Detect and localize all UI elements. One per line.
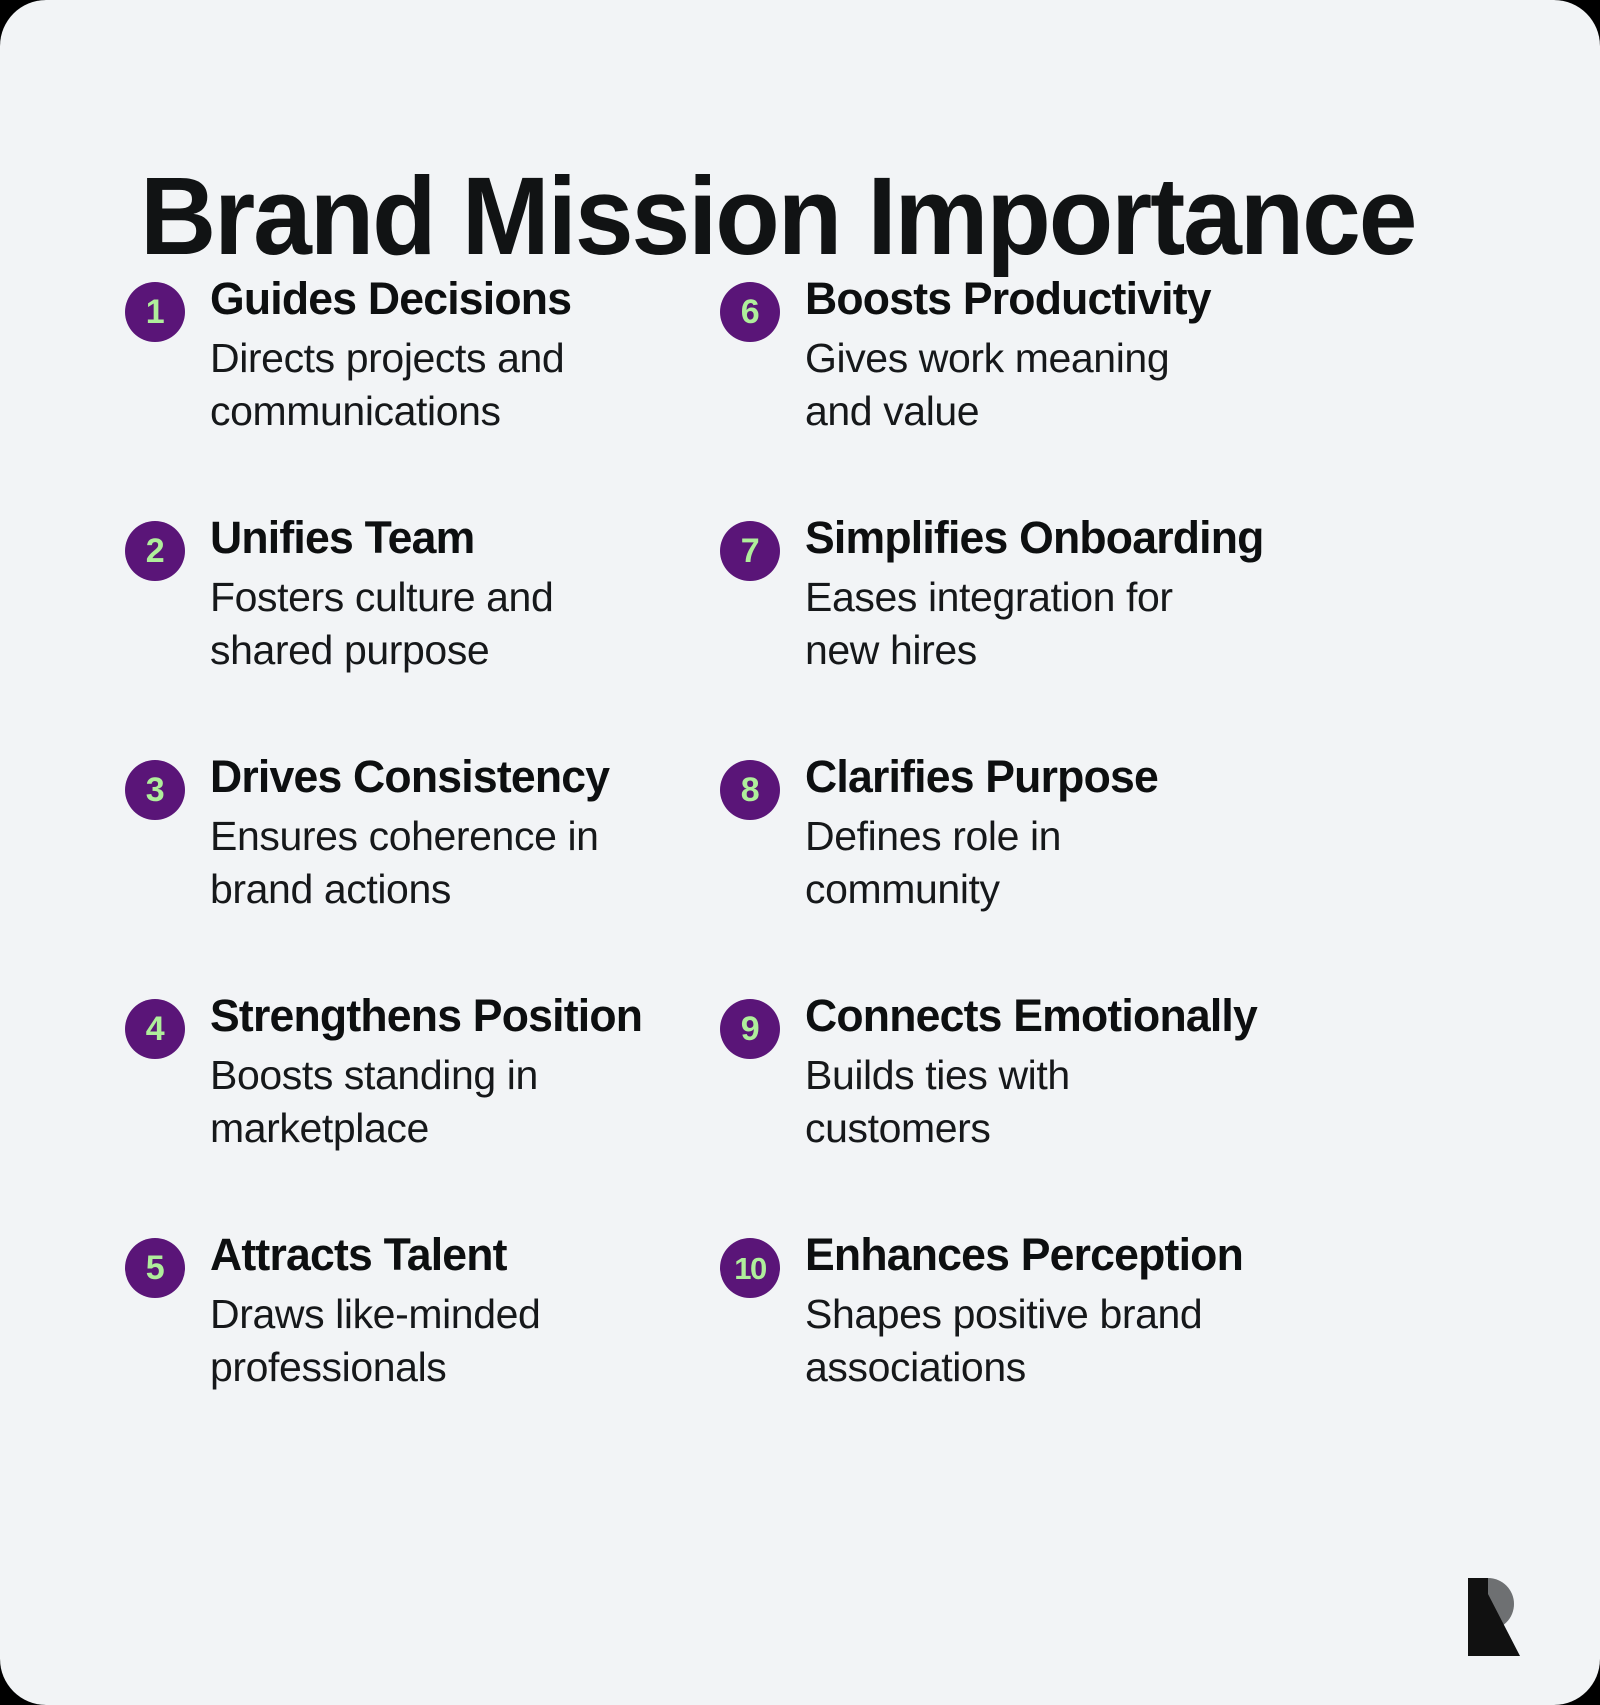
- item-description: Draws like-minded professionals: [210, 1288, 640, 1395]
- list-item: 5 Attracts Talent Draws like-minded prof…: [125, 1232, 720, 1471]
- item-number-badge: 5: [125, 1238, 185, 1298]
- item-description: Shapes positive brand associations: [805, 1288, 1235, 1395]
- item-body: Simplifies Onboarding Eases integration …: [720, 515, 1360, 677]
- item-heading: Unifies Team: [210, 515, 715, 561]
- item-body: Strengthens Position Boosts standing in …: [125, 993, 720, 1155]
- item-description: Directs projects and communications: [210, 332, 640, 439]
- item-number-badge: 10: [720, 1238, 780, 1298]
- list-item: 1 Guides Decisions Directs projects and …: [125, 276, 720, 515]
- items-grid: 1 Guides Decisions Directs projects and …: [0, 276, 1600, 1471]
- list-item: 3 Drives Consistency Ensures coherence i…: [125, 754, 720, 993]
- item-number-badge: 1: [125, 282, 185, 342]
- item-body: Guides Decisions Directs projects and co…: [125, 276, 720, 438]
- item-body: Drives Consistency Ensures coherence in …: [125, 754, 720, 916]
- list-item: 7 Simplifies Onboarding Eases integratio…: [720, 515, 1360, 754]
- item-description: Boosts standing in marketplace: [210, 1049, 640, 1156]
- item-number-badge: 8: [720, 760, 780, 820]
- item-number-badge: 3: [125, 760, 185, 820]
- item-number-badge: 6: [720, 282, 780, 342]
- infographic-card: Brand Mission Importance 1 Guides Decisi…: [0, 0, 1600, 1705]
- item-number-badge: 9: [720, 999, 780, 1059]
- item-heading: Enhances Perception: [805, 1232, 1354, 1278]
- item-heading: Guides Decisions: [210, 276, 715, 322]
- item-heading: Strengthens Position: [210, 993, 715, 1039]
- corner-bottom-right: [1548, 1653, 1600, 1705]
- list-item: 10 Enhances Perception Shapes positive b…: [720, 1232, 1360, 1471]
- list-item: 8 Clarifies Purpose Defines role in comm…: [720, 754, 1360, 993]
- item-number-badge: 2: [125, 521, 185, 581]
- item-description: Ensures coherence in brand actions: [210, 810, 640, 917]
- item-number-badge: 4: [125, 999, 185, 1059]
- item-description: Gives work meaning and value: [805, 332, 1235, 439]
- page-title: Brand Mission Importance: [140, 162, 1417, 272]
- list-item: 9 Connects Emotionally Builds ties with …: [720, 993, 1360, 1232]
- item-body: Enhances Perception Shapes positive bran…: [720, 1232, 1360, 1394]
- item-body: Attracts Talent Draws like-minded profes…: [125, 1232, 720, 1394]
- column-left: 1 Guides Decisions Directs projects and …: [125, 276, 720, 1471]
- list-item: 6 Boosts Productivity Gives work meaning…: [720, 276, 1360, 515]
- item-heading: Connects Emotionally: [805, 993, 1354, 1039]
- item-number-badge: 7: [720, 521, 780, 581]
- list-item: 2 Unifies Team Fosters culture and share…: [125, 515, 720, 754]
- item-heading: Boosts Productivity: [805, 276, 1354, 322]
- item-body: Connects Emotionally Builds ties with cu…: [720, 993, 1360, 1155]
- item-description: Defines role in community: [805, 810, 1235, 917]
- item-heading: Clarifies Purpose: [805, 754, 1354, 800]
- item-heading: Drives Consistency: [210, 754, 715, 800]
- corner-top-left: [0, 0, 52, 52]
- corner-top-right: [1548, 0, 1600, 52]
- column-right: 6 Boosts Productivity Gives work meaning…: [720, 276, 1360, 1471]
- item-description: Eases integration for new hires: [805, 571, 1235, 678]
- list-item: 4 Strengthens Position Boosts standing i…: [125, 993, 720, 1232]
- brand-logo-r-icon: [1468, 1578, 1530, 1656]
- item-body: Boosts Productivity Gives work meaning a…: [720, 276, 1360, 438]
- item-heading: Attracts Talent: [210, 1232, 715, 1278]
- item-description: Fosters culture and shared purpose: [210, 571, 640, 678]
- item-description: Builds ties with customers: [805, 1049, 1235, 1156]
- corner-bottom-left: [0, 1653, 52, 1705]
- item-body: Unifies Team Fosters culture and shared …: [125, 515, 720, 677]
- item-body: Clarifies Purpose Defines role in commun…: [720, 754, 1360, 916]
- item-heading: Simplifies Onboarding: [805, 515, 1354, 561]
